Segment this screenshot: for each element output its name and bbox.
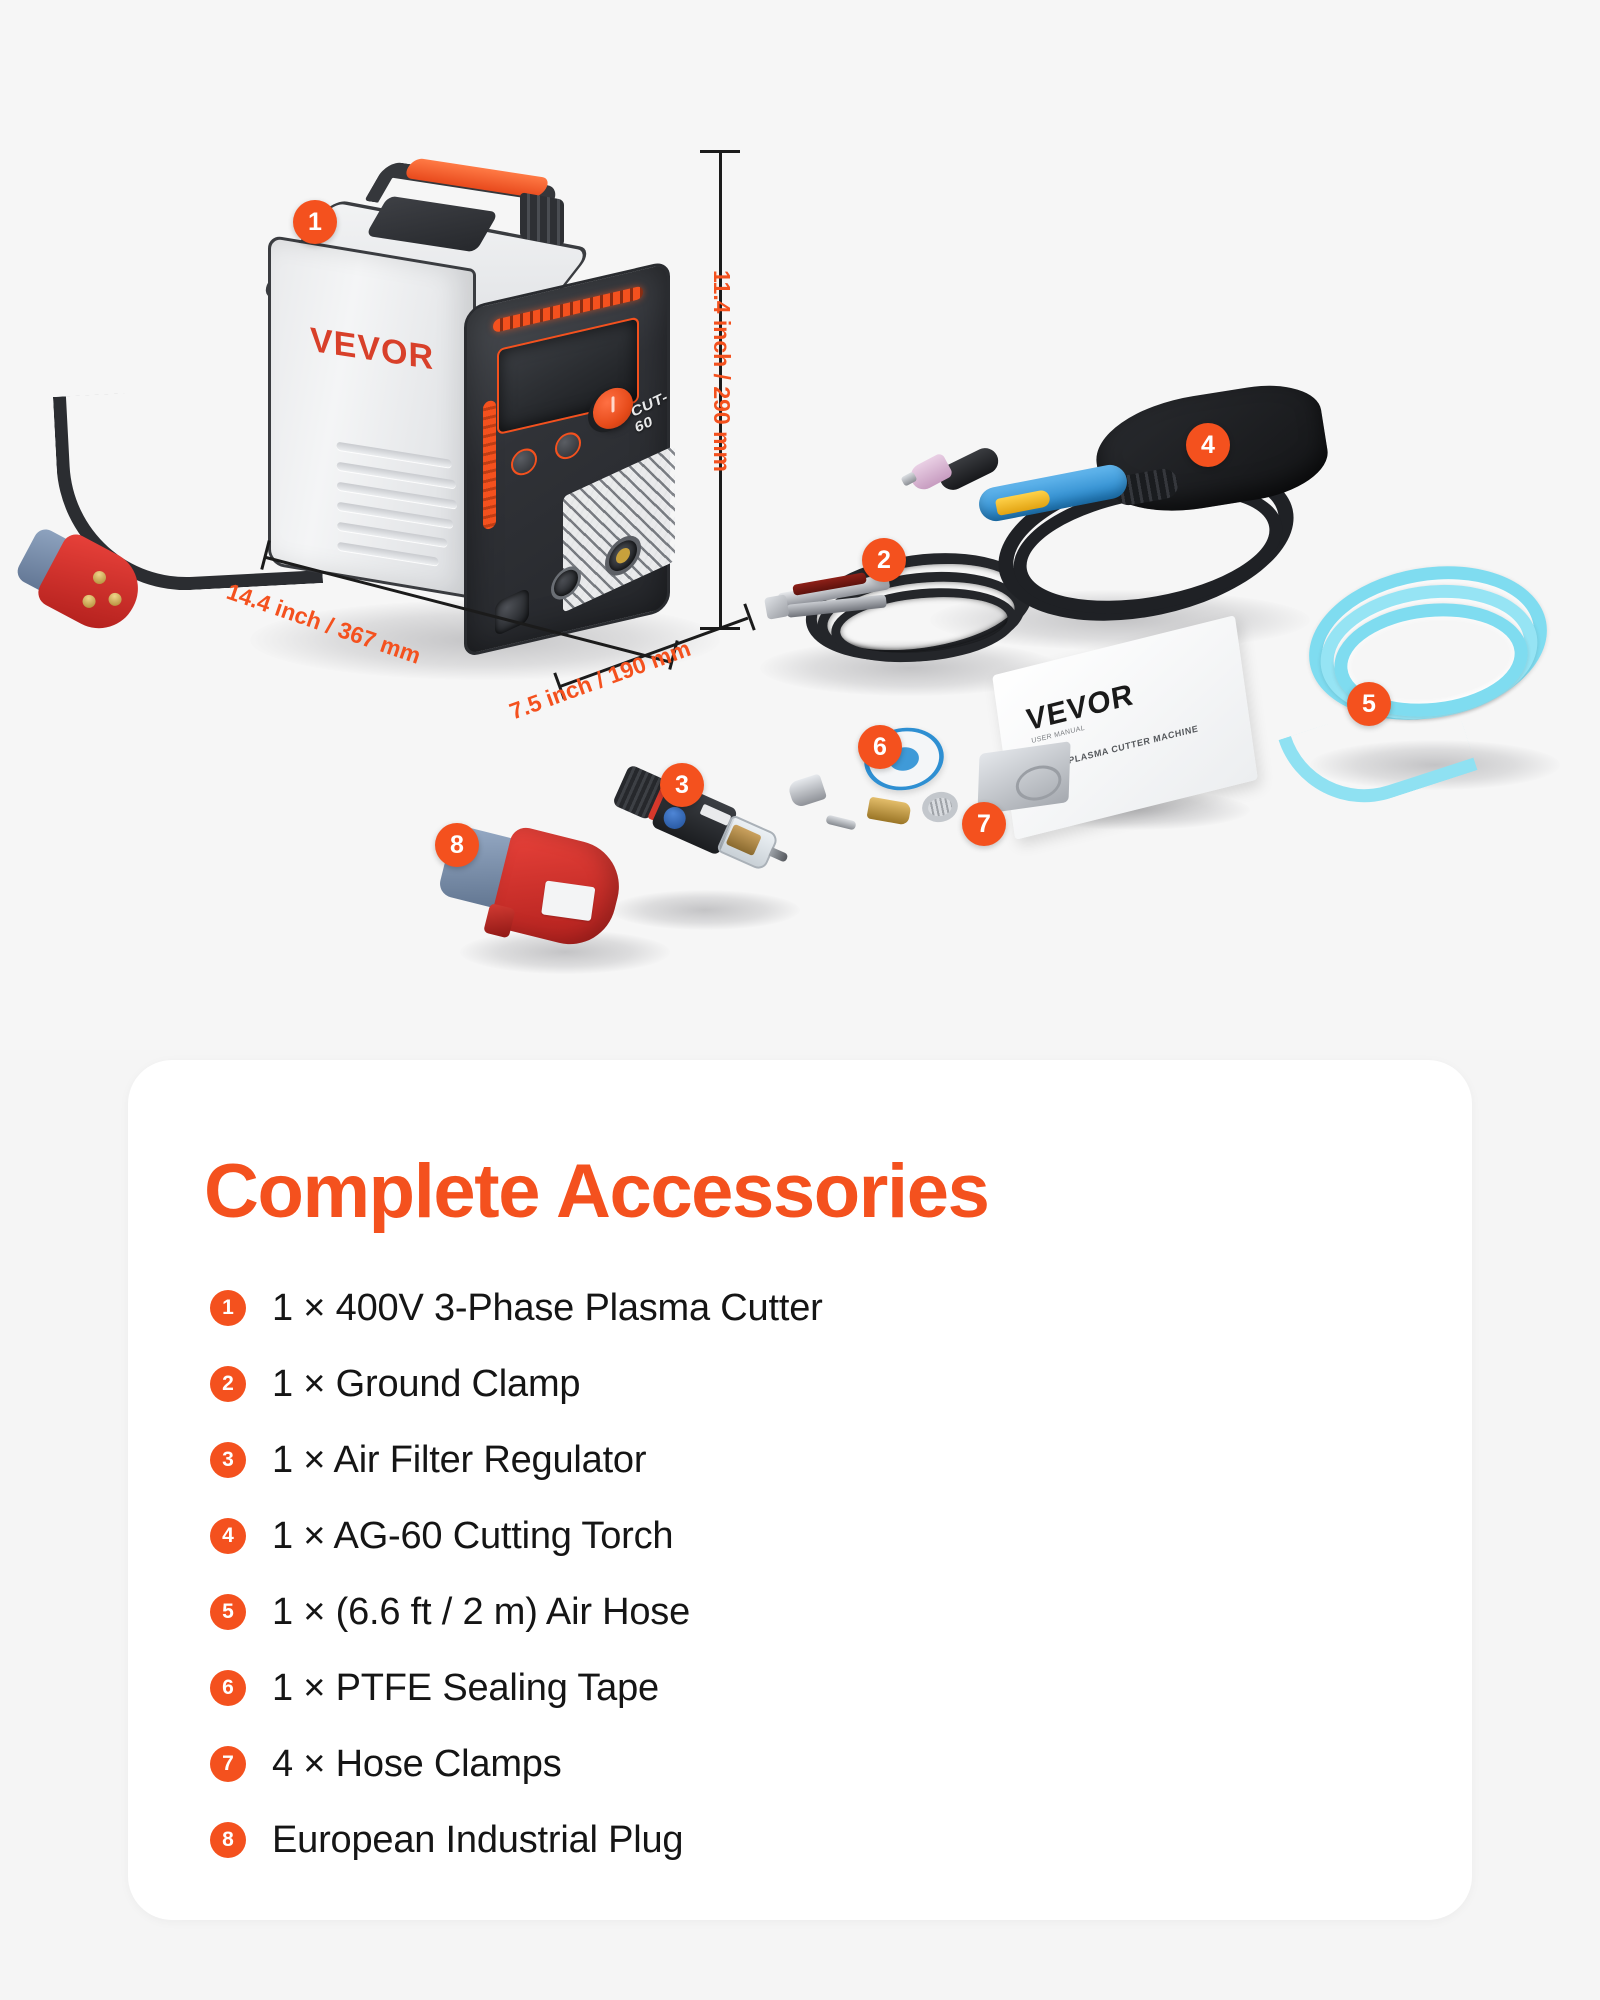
list-item: 51 × (6.6 ft / 2 m) Air Hose (210, 1574, 1390, 1650)
list-item-badge: 8 (210, 1822, 246, 1858)
clamp-tip (764, 594, 789, 619)
height-dimension-label: 11.4 inch / 290 mm (708, 270, 735, 472)
list-item: 74 × Hose Clamps (210, 1726, 1390, 1802)
list-item-label: 1 × PTFE Sealing Tape (272, 1667, 659, 1710)
list-item-badge: 7 (210, 1746, 246, 1782)
accessories-list: 11 × 400V 3-Phase Plasma Cutter21 × Grou… (210, 1270, 1390, 1878)
photo-callout-4: 4 (1186, 423, 1230, 467)
list-item-badge: 2 (210, 1366, 246, 1402)
list-item: 21 × Ground Clamp (210, 1346, 1390, 1422)
list-item-label: 1 × Air Filter Regulator (272, 1439, 646, 1482)
cutting-torch (900, 420, 1330, 660)
photo-callout-7: 7 (962, 802, 1006, 846)
product-infographic-page: VEVOR CUT-60 (0, 0, 1600, 2000)
list-item: 61 × PTFE Sealing Tape (210, 1650, 1390, 1726)
list-item-label: 1 × (6.6 ft / 2 m) Air Hose (272, 1591, 690, 1634)
accessories-card: Complete Accessories 11 × 400V 3-Phase P… (128, 1060, 1472, 1920)
photo-callout-2: 2 (862, 538, 906, 582)
torch-control-port (551, 561, 581, 605)
list-item: 8European Industrial Plug (210, 1802, 1390, 1878)
air-inlet-port (495, 587, 529, 637)
list-item: 41 × AG-60 Cutting Torch (210, 1498, 1390, 1574)
side-vent-louvers (337, 442, 458, 569)
list-item-label: 4 × Hose Clamps (272, 1743, 562, 1786)
list-item-label: European Industrial Plug (272, 1819, 683, 1862)
card-title: Complete Accessories (204, 1148, 988, 1235)
euplug-latch (483, 903, 515, 938)
plasma-cutter-machine: VEVOR CUT-60 (268, 180, 738, 650)
list-item-badge: 6 (210, 1670, 246, 1706)
list-item: 31 × Air Filter Regulator (210, 1422, 1390, 1498)
euplug-rating-label (541, 880, 595, 921)
list-item-badge: 3 (210, 1442, 246, 1478)
photo-callout-5: 5 (1347, 682, 1391, 726)
front-orange-rib (483, 399, 496, 530)
list-item-badge: 4 (210, 1518, 246, 1554)
small-parts-group (780, 720, 1120, 920)
photo-callout-3: 3 (660, 763, 704, 807)
height-tick-top (700, 150, 740, 153)
photo-callout-6: 6 (858, 725, 902, 769)
carry-handle (368, 174, 558, 248)
photo-stage: VEVOR CUT-60 (0, 0, 1600, 1050)
list-item-label: 1 × AG-60 Cutting Torch (272, 1515, 673, 1558)
photo-callout-8: 8 (435, 823, 479, 867)
list-item-badge: 5 (210, 1594, 246, 1630)
hose-clamp (919, 789, 960, 826)
list-item-label: 1 × 400V 3-Phase Plasma Cutter (272, 1287, 823, 1330)
list-item-label: 1 × Ground Clamp (272, 1363, 580, 1406)
list-item-badge: 1 (210, 1290, 246, 1326)
brass-hose-fitting (866, 797, 911, 826)
photo-callout-1: 1 (293, 200, 337, 244)
spare-nozzle (787, 773, 827, 808)
air-hose (1300, 560, 1580, 820)
spare-electrode (825, 815, 856, 831)
panel-button[interactable] (511, 446, 537, 478)
torch-power-port (605, 529, 641, 582)
panel-button[interactable] (555, 430, 581, 462)
machine-front-panel: CUT-60 (464, 260, 670, 658)
list-item: 11 × 400V 3-Phase Plasma Cutter (210, 1270, 1390, 1346)
machine-side-panel (268, 235, 476, 600)
product-photo-hero: VEVOR CUT-60 (0, 0, 1600, 1050)
handle-fins (520, 192, 564, 246)
